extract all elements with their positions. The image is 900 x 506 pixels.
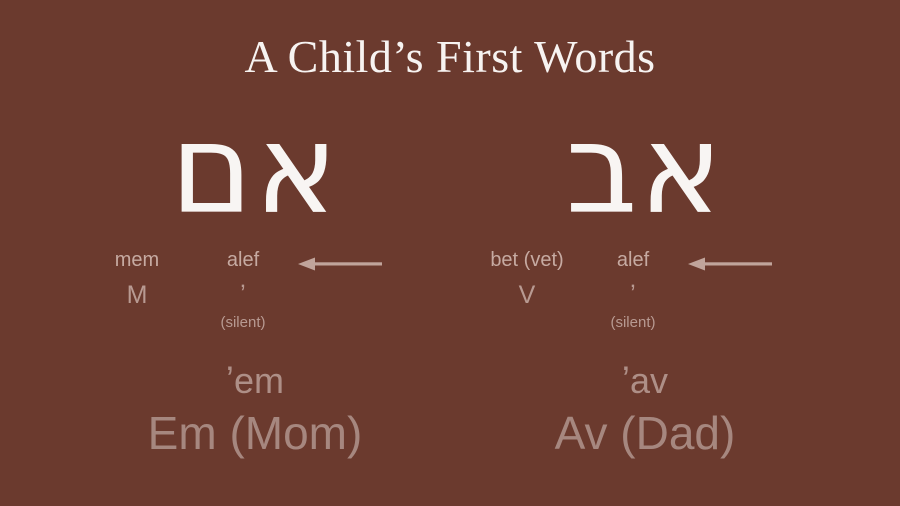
letter-annotations-mom: mem M alef ʼ (silent): [60, 248, 450, 340]
letter-sound-alef: ʼ: [568, 279, 698, 313]
word-card-mom: אם mem M alef ʼ (silent) ʼem E: [60, 96, 450, 460]
letter-annotations-dad: bet (vet) V alef ʼ (silent): [450, 248, 840, 340]
page-title: A Child’s First Words: [0, 32, 900, 83]
letter-note-alef: (silent): [178, 314, 308, 332]
transliteration-av: ʼav: [622, 360, 668, 401]
hebrew-word-em: אם: [170, 96, 339, 246]
transliteration-em: ʼem: [226, 360, 284, 401]
letter-name-alef: alef: [568, 248, 698, 273]
letter-breakdown-alef-mom: alef ʼ (silent): [178, 248, 308, 332]
slide-canvas: A Child’s First Words אם mem M alef ʼ (s…: [0, 0, 900, 506]
left-arrow-icon: [688, 257, 772, 271]
letter-sound-alef: ʼ: [178, 279, 308, 313]
letter-name-alef: alef: [178, 248, 308, 273]
gloss-av: Av (Dad): [555, 407, 736, 460]
letter-note-alef: (silent): [568, 314, 698, 332]
word-columns: אם mem M alef ʼ (silent) ʼem E: [0, 96, 900, 460]
hebrew-word-av: אב: [566, 96, 725, 246]
letter-breakdown-alef-dad: alef ʼ (silent): [568, 248, 698, 332]
gloss-em: Em (Mom): [148, 407, 363, 460]
word-card-dad: אב bet (vet) V alef ʼ (silent) ʼav: [450, 96, 840, 460]
left-arrow-icon: [298, 257, 382, 271]
